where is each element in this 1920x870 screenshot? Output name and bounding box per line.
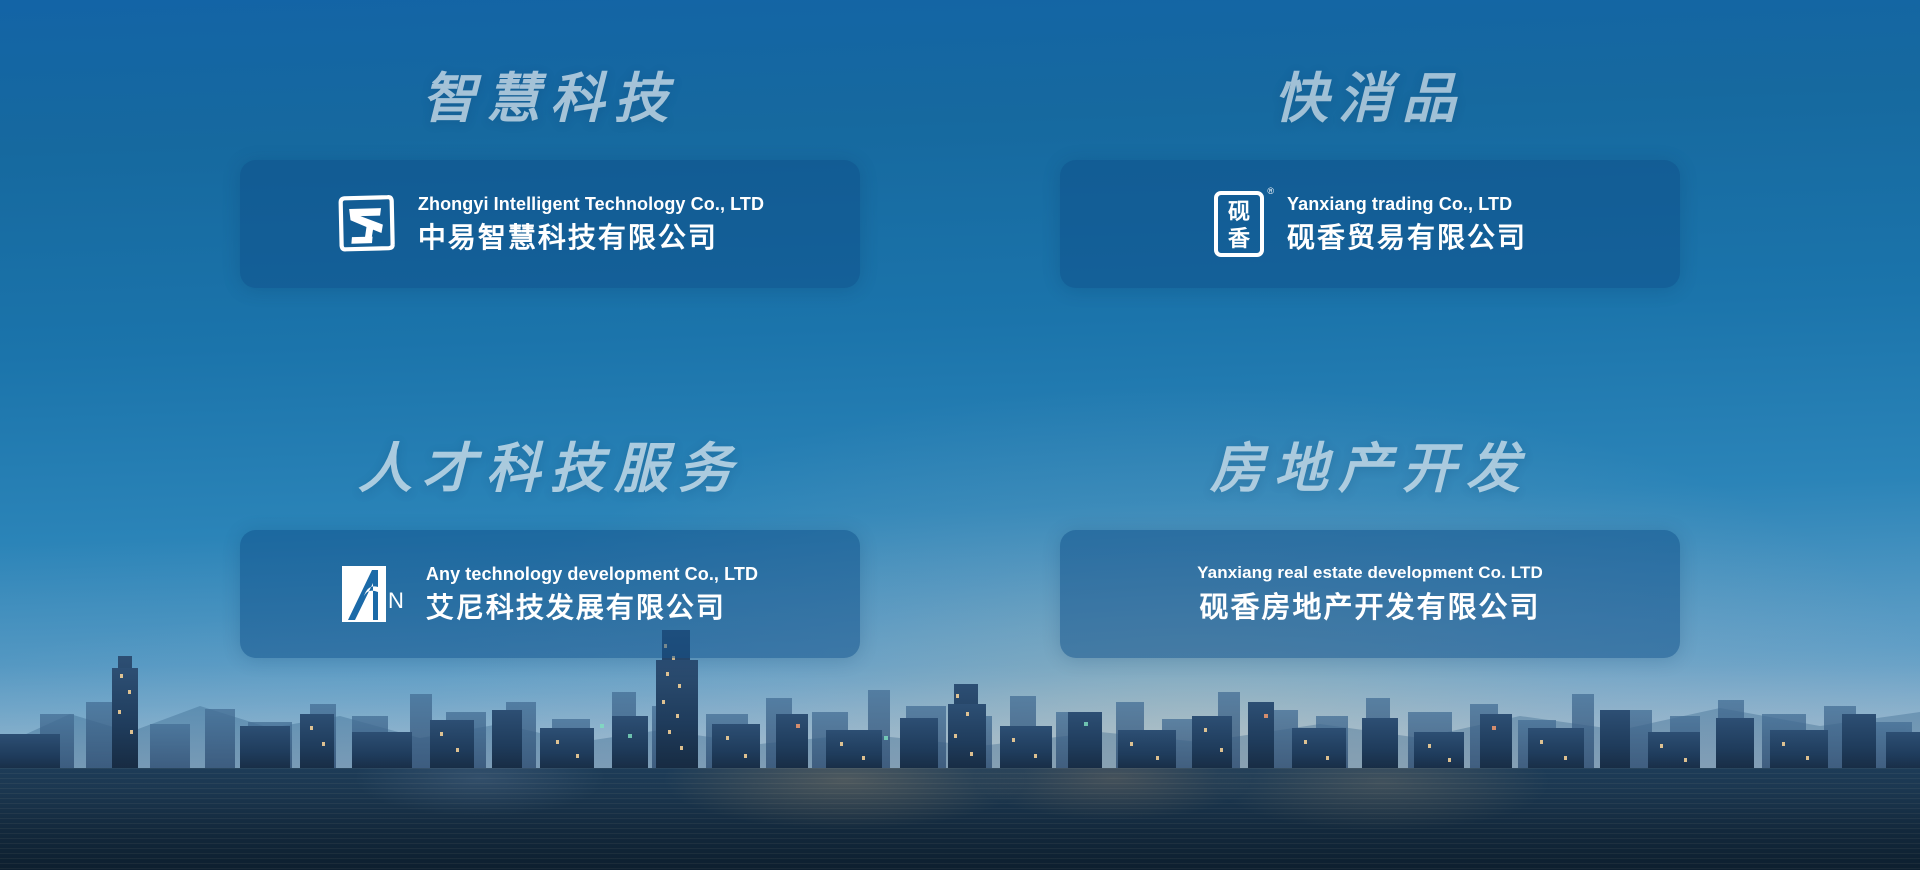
- business-segments-grid: 智慧科技 Zhongyi Intelligent Technology Co.,…: [0, 0, 1920, 870]
- company-name-en: Yanxiang trading Co., LTD: [1287, 193, 1527, 216]
- company-card-yanxiang-trading[interactable]: 砚 香 ® Yanxiang trading Co., LTD 砚香贸易有限公司: [1060, 160, 1680, 288]
- any-logo-icon: NY: [342, 566, 404, 622]
- company-name-block: Zhongyi Intelligent Technology Co., LTD …: [418, 193, 764, 254]
- segment-smart-technology: 智慧科技 Zhongyi Intelligent Technology Co.,…: [240, 72, 860, 442]
- zhongyi-z-logo-icon: [336, 194, 396, 254]
- company-name-zh: 中易智慧科技有限公司: [418, 220, 764, 255]
- segment-fmcg: 快消品 砚 香 ® Yanxiang trading Co., LTD 砚香贸易…: [1060, 72, 1680, 442]
- company-name-zh: 砚香贸易有限公司: [1287, 220, 1527, 255]
- company-name-zh: 艾尼科技发展有限公司: [426, 590, 758, 625]
- segment-title-talent-services: 人才科技服务: [240, 442, 860, 496]
- company-card-yanxiang-real-estate[interactable]: Yanxiang real estate development Co. LTD…: [1060, 530, 1680, 658]
- svg-text:砚: 砚: [1228, 200, 1250, 225]
- company-name-en: Yanxiang real estate development Co. LTD: [1197, 562, 1543, 584]
- company-name-block: Yanxiang trading Co., LTD 砚香贸易有限公司: [1287, 193, 1527, 254]
- segment-title-smart-technology: 智慧科技: [240, 72, 860, 126]
- registered-trademark-icon: ®: [1267, 187, 1274, 196]
- svg-text:香: 香: [1228, 227, 1250, 252]
- segment-title-real-estate: 房地产开发: [1060, 442, 1680, 496]
- segment-title-fmcg: 快消品: [1060, 72, 1680, 126]
- company-name-en: Any technology development Co., LTD: [426, 563, 758, 586]
- segment-talent-services: 人才科技服务 NY Any technology development Co.…: [240, 442, 860, 812]
- company-name-block: Yanxiang real estate development Co. LTD…: [1197, 562, 1543, 626]
- yanxiang-seal-logo-icon: 砚 香 ®: [1213, 190, 1265, 258]
- company-name-zh: 砚香房地产开发有限公司: [1199, 590, 1540, 626]
- company-name-en: Zhongyi Intelligent Technology Co., LTD: [418, 193, 764, 216]
- segment-real-estate: 房地产开发 Yanxiang real estate development C…: [1060, 442, 1680, 812]
- page-stage: 智慧科技 Zhongyi Intelligent Technology Co.,…: [0, 0, 1920, 870]
- svg-text:NY: NY: [388, 588, 404, 613]
- company-card-zhongyi[interactable]: Zhongyi Intelligent Technology Co., LTD …: [240, 160, 860, 288]
- company-card-any-technology[interactable]: NY Any technology development Co., LTD 艾…: [240, 530, 860, 658]
- company-name-block: Any technology development Co., LTD 艾尼科技…: [426, 563, 758, 624]
